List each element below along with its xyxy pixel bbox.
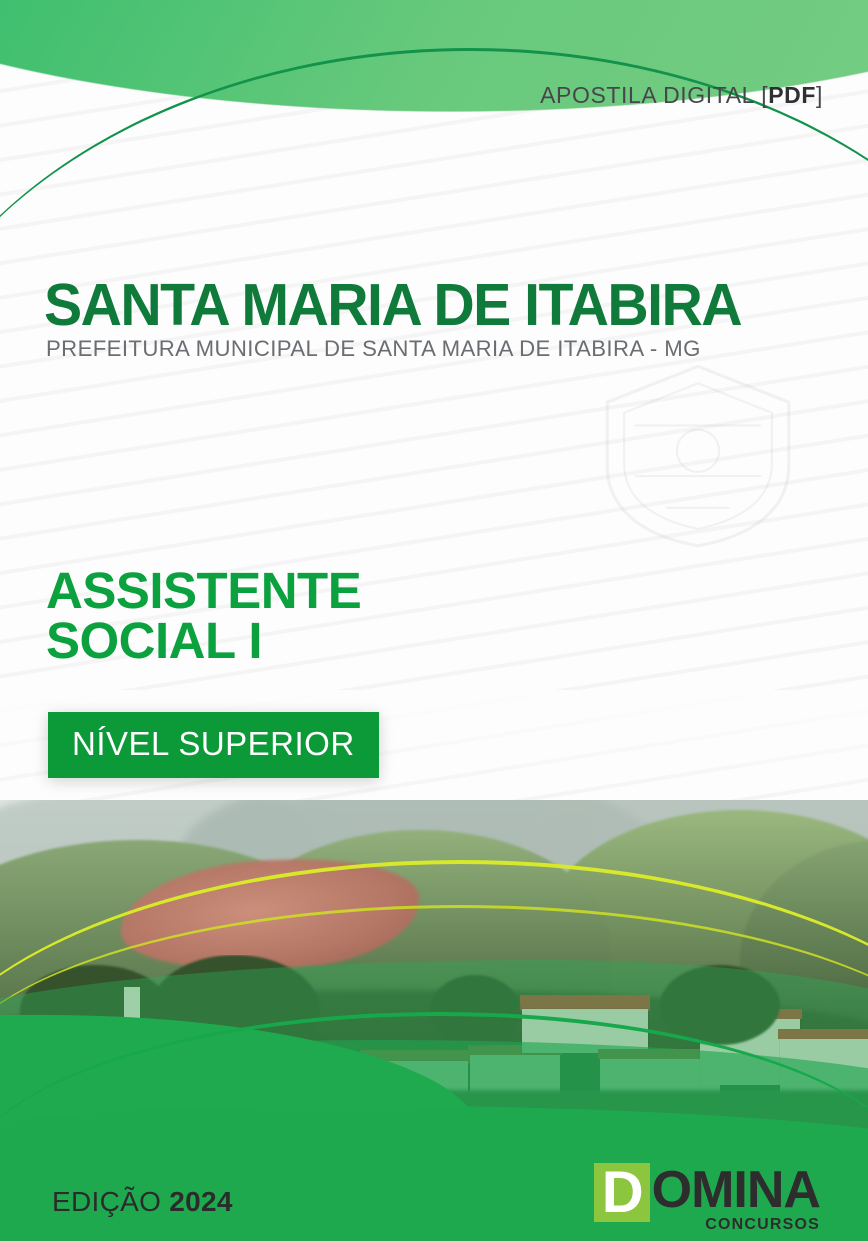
format-label-pdf: PDF [768, 82, 816, 108]
edition-label: EDIÇÃO [52, 1186, 161, 1217]
logo-wordmark: D OMINA [594, 1163, 820, 1222]
domina-concursos-logo: D OMINA CONCURSOS [594, 1163, 820, 1234]
position-title-line2: SOCIAL I [46, 616, 361, 666]
edition-year: 2024 [169, 1186, 233, 1217]
format-label-suffix: ] [816, 82, 823, 108]
digital-format-label: APOSTILA DIGITAL [PDF] [540, 82, 823, 109]
position-title-line1: ASSISTENTE [46, 566, 361, 616]
logo-word-omina: OMINA [650, 1163, 820, 1218]
education-level-badge: NÍVEL SUPERIOR [48, 712, 379, 778]
page-title: SANTA MARIA DE ITABIRA [44, 276, 741, 335]
apostila-cover: APOSTILA DIGITAL [PDF] SANTA MARIA DE IT… [0, 0, 868, 1241]
format-label-prefix: APOSTILA DIGITAL [ [540, 82, 768, 108]
logo-letter-d: D [594, 1163, 650, 1222]
edition-text: EDIÇÃO 2024 [52, 1186, 233, 1218]
page-subtitle: PREFEITURA MUNICIPAL DE SANTA MARIA DE I… [46, 336, 701, 362]
position-title: ASSISTENTE SOCIAL I [46, 566, 361, 667]
